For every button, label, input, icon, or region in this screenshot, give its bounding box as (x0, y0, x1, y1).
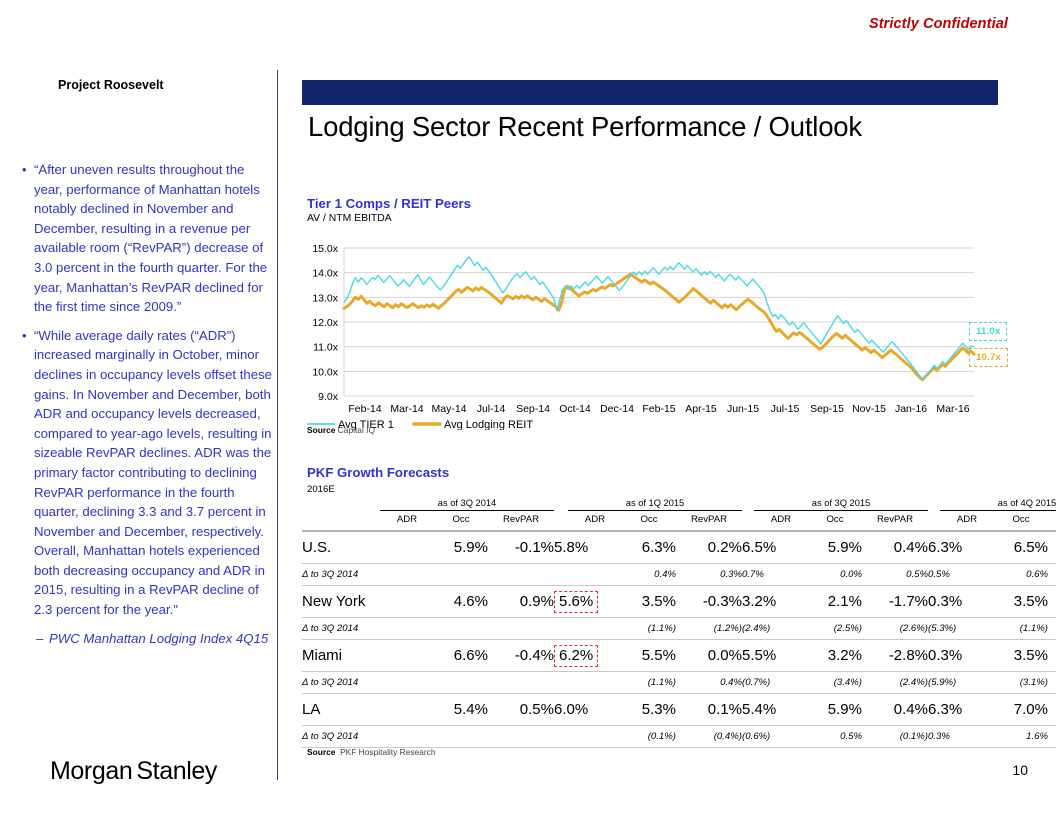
table-subtitle: 2016E (307, 484, 335, 495)
delta-cell: (2.6%) (862, 618, 928, 640)
delta-row: Δ to 3Q 20140.4%0.3%0.7%0.0%0.5%0.5%0.6%… (302, 564, 1056, 586)
table-cell: 1.0% (1048, 694, 1056, 726)
row-label: LA (302, 694, 380, 726)
table-cell: 0.1% (676, 694, 742, 726)
table-cell: 7.0% (994, 694, 1048, 726)
commentary-bullet-text: “While average daily rates (“ADR”) incre… (34, 326, 276, 620)
table-cell: 0.0% (676, 640, 742, 672)
delta-row-label: Δ to 3Q 2014 (302, 564, 380, 586)
column-header-occ: Occ (434, 511, 488, 529)
chart-title: Tier 1 Comps / REIT Peers (307, 196, 471, 211)
table-cell: 5.4% (742, 694, 754, 726)
delta-cell (434, 726, 488, 748)
table-row: U.S.5.9%-0.1%5.8%6.3%0.2%6.5%5.9%0.4%6.3… (302, 531, 1056, 564)
delta-cell (554, 618, 568, 640)
table-cell: 3.2% (808, 640, 862, 672)
table-cell: 6.2% (554, 640, 568, 672)
table-cell: -2.5% (1048, 640, 1056, 672)
logo-word-stanley: Stanley (136, 757, 217, 785)
table-cell: 6.5% (742, 531, 754, 564)
group-header: as of 3Q 2015 (754, 495, 928, 511)
table-cell: 6.3% (928, 531, 940, 564)
delta-cell: 0.3% (676, 564, 742, 586)
x-axis-tick-label: Mar-16 (936, 403, 969, 415)
delta-cell: 0.5% (1048, 726, 1056, 748)
x-axis-tick-label: Jun-15 (727, 403, 759, 415)
x-axis-tick-label: Apr-15 (685, 403, 717, 415)
delta-cell (554, 726, 568, 748)
y-axis-tick-label: 11.0x (313, 342, 339, 354)
column-header-adr: ADR (380, 511, 434, 529)
table-cell: 5.5% (742, 640, 754, 672)
page-title: Lodging Sector Recent Performance / Outl… (308, 111, 862, 143)
delta-cell: (1.2%) (676, 618, 742, 640)
x-axis-tick-label: May-14 (431, 403, 466, 415)
x-axis-tick-label: Feb-15 (642, 403, 675, 415)
table-cell: 0.5% (488, 694, 554, 726)
column-spacer (380, 618, 434, 640)
bullet-marker-icon: • (22, 160, 34, 317)
column-spacer (568, 564, 622, 586)
table-row: LA5.4%0.5%6.0%5.3%0.1%5.4%5.9%0.4%6.3%7.… (302, 694, 1056, 726)
column-header-adr: ADR (568, 511, 622, 529)
column-header-revpar: RevPAR (488, 511, 554, 529)
x-axis-tick-label: Jan-16 (895, 403, 927, 415)
delta-cell: (0.7%) (742, 672, 754, 694)
commentary-attribution: – PWC Manhattan Lodging Index 4Q15 (22, 629, 276, 649)
column-header-adr: ADR (940, 511, 994, 529)
column-spacer (380, 672, 434, 694)
bullet-marker-icon: • (22, 326, 34, 620)
table-cell: 5.6% (554, 586, 568, 618)
delta-cell: 0.7% (742, 564, 754, 586)
delta-cell (488, 618, 554, 640)
table-cell: 6.6% (434, 640, 488, 672)
table-source-label: Source (307, 747, 335, 757)
chart-legend-label: Avg Lodging REIT (444, 419, 533, 430)
table-cell: 0.9% (488, 586, 554, 618)
delta-row-label: Δ to 3Q 2014 (302, 726, 380, 748)
table-cell: -0.4% (488, 640, 554, 672)
delta-cell: (2.1%) (1048, 672, 1056, 694)
highlighted-value: 6.2% (554, 645, 598, 667)
group-header: as of 1Q 2015 (568, 495, 742, 511)
column-header-revpar: RevPAR (676, 511, 742, 529)
column-header-occ: Occ (622, 511, 676, 529)
table-source-value: PKF Hospitality Research (340, 747, 435, 757)
table-cell: 5.5% (622, 640, 676, 672)
commentary-attribution-text: PWC Manhattan Lodging Index 4Q15 (49, 629, 276, 649)
delta-cell (434, 618, 488, 640)
chart-svg: 15.0x14.0x13.0x12.0x11.0x10.0x9.0xFeb-14… (300, 240, 1012, 430)
table-cell: 0.2% (676, 531, 742, 564)
table-cell: 3.5% (994, 586, 1048, 618)
morgan-stanley-logo: MorganStanley (50, 757, 217, 786)
table-cell: -2.8% (862, 640, 928, 672)
table-cell: 0.3% (928, 586, 940, 618)
delta-cell: (5.9%) (928, 672, 940, 694)
x-axis-tick-label: Jul-14 (477, 403, 506, 415)
delta-cell: 0.5% (808, 726, 862, 748)
table-row: New York4.6%0.9%5.6%3.5%-0.3%3.2%2.1%-1.… (302, 586, 1056, 618)
table-title: PKF Growth Forecasts (307, 465, 449, 480)
column-spacer (568, 672, 622, 694)
delta-cell: (0.1%) (622, 726, 676, 748)
column-spacer (380, 726, 434, 748)
commentary-column: • “After uneven results throughout the y… (22, 160, 276, 648)
table-cell: 3.5% (994, 640, 1048, 672)
delta-cell (434, 672, 488, 694)
delta-cell: (2.4%) (862, 672, 928, 694)
delta-cell: (3.1%) (994, 672, 1048, 694)
table-cell: 6.5% (994, 531, 1048, 564)
y-axis-tick-label: 15.0x (312, 243, 338, 255)
column-header-revpar: RevPAR (862, 511, 928, 529)
chart-source: Source Capital IQ (307, 425, 375, 435)
x-axis-tick-label: Dec-14 (600, 403, 634, 415)
column-spacer (380, 640, 434, 672)
row-label: U.S. (302, 531, 380, 564)
group-header-row: as of 3Q 2014 as of 1Q 2015 as of 3Q 201… (302, 495, 1056, 511)
y-axis-tick-label: 10.0x (312, 366, 338, 378)
table-cell: 0.4% (862, 694, 928, 726)
section-banner (302, 80, 998, 105)
page-number: 10 (1012, 762, 1028, 778)
table-source: Source PKF Hospitality Research (307, 747, 435, 757)
delta-cell: (1.1%) (994, 618, 1048, 640)
delta-cell: 0.6% (994, 564, 1048, 586)
x-axis-tick-label: Mar-14 (390, 403, 423, 415)
table-body: U.S.5.9%-0.1%5.8%6.3%0.2%6.5%5.9%0.4%6.3… (302, 531, 1056, 748)
column-spacer (568, 726, 622, 748)
table-cell: -0.1% (488, 531, 554, 564)
delta-cell: (1.1%) (622, 618, 676, 640)
table-cell: 4.6% (434, 586, 488, 618)
x-axis-tick-label: Nov-15 (852, 403, 886, 415)
callout-reit: 10.7x (969, 348, 1008, 367)
delta-row: Δ to 3Q 2014(0.1%)(0.4%)(0.6%)0.5%(0.1%)… (302, 726, 1056, 748)
table-cell: 5.9% (434, 531, 488, 564)
y-axis-tick-label: 13.0x (312, 292, 338, 304)
delta-cell: (0.4%) (676, 726, 742, 748)
delta-cell: (0.1%) (862, 726, 928, 748)
delta-cell: 1.6% (994, 726, 1048, 748)
row-label: Miami (302, 640, 380, 672)
row-label: New York (302, 586, 380, 618)
table-cell: 5.9% (808, 694, 862, 726)
table-cell: 5.3% (622, 694, 676, 726)
x-axis-tick-label: Oct-14 (559, 403, 591, 415)
column-header-row: ADR Occ RevPAR ADR Occ RevPAR ADR Occ Re… (302, 511, 1056, 529)
logo-word-morgan: Morgan (50, 757, 132, 785)
table-cell: 0.4% (862, 531, 928, 564)
y-axis-tick-label: 9.0x (318, 391, 339, 403)
table-cell: -0.3% (676, 586, 742, 618)
y-axis-tick-label: 12.0x (312, 317, 338, 329)
delta-cell (488, 564, 554, 586)
table-head: as of 3Q 2014 as of 1Q 2015 as of 3Q 201… (302, 495, 1056, 531)
table-cell: 0.3% (928, 640, 940, 672)
commentary-bullet: • “After uneven results throughout the y… (22, 160, 276, 317)
column-header-occ: Occ (808, 511, 862, 529)
table-cell: 3.2% (742, 586, 754, 618)
project-name-label: Project Roosevelt (58, 78, 164, 92)
column-spacer (380, 531, 434, 564)
x-axis-tick-label: Jul-15 (771, 403, 800, 415)
chart-subtitle: AV / NTM EBITDA (307, 213, 392, 224)
chart-series-line (344, 274, 974, 380)
delta-cell (554, 672, 568, 694)
table-cell: 2.1% (808, 586, 862, 618)
delta-cell: 0.4% (676, 672, 742, 694)
chart-source-value: Capital IQ (338, 425, 375, 435)
table-cell: -0.5% (1048, 531, 1056, 564)
delta-cell: (1.9%) (1048, 618, 1056, 640)
commentary-bullet-text: “After uneven results throughout the yea… (34, 160, 276, 317)
highlighted-value: 5.6% (554, 591, 598, 613)
column-spacer (568, 618, 622, 640)
callout-tier1: 11.0x (969, 322, 1007, 341)
delta-row-label: Δ to 3Q 2014 (302, 672, 380, 694)
delta-cell: (1.1%) (622, 672, 676, 694)
column-spacer (380, 586, 434, 618)
delta-cell: (5.3%) (928, 618, 940, 640)
table-cell: 6.3% (622, 531, 676, 564)
column-spacer (380, 564, 434, 586)
table-cell: -1.0% (1048, 586, 1056, 618)
x-axis-tick-label: Feb-14 (348, 403, 381, 415)
x-axis-tick-label: Sep-14 (516, 403, 550, 415)
delta-cell: (0.6%) (742, 726, 754, 748)
delta-cell (434, 564, 488, 586)
column-spacer (380, 694, 434, 726)
delta-cell (554, 564, 568, 586)
section-banner-label: LODGING CAPITAL MARKETS OBSERVATIONS (11, 6, 258, 17)
column-header-revpar: RevPAR (1048, 511, 1056, 529)
column-header-adr: ADR (754, 511, 808, 529)
y-axis-tick-label: 14.0x (312, 268, 338, 280)
delta-row: Δ to 3Q 2014(1.1%)0.4%(0.7%)(3.4%)(2.4%)… (302, 672, 1056, 694)
commentary-bullet: • “While average daily rates (“ADR”) inc… (22, 326, 276, 620)
delta-cell: 0.4% (622, 564, 676, 586)
table-row: Miami6.6%-0.4%6.2%5.5%0.0%5.5%3.2%-2.8%0… (302, 640, 1056, 672)
table-cell: -1.7% (862, 586, 928, 618)
dash-marker-icon: – (36, 629, 49, 649)
confidentiality-notice: Strictly Confidential (869, 16, 1008, 32)
delta-row: Δ to 3Q 2014(1.1%)(1.2%)(2.4%)(2.5%)(2.6… (302, 618, 1056, 640)
table-cell: 5.4% (434, 694, 488, 726)
chart-source-label: Source (307, 425, 335, 435)
x-axis-tick-label: Sep-15 (810, 403, 844, 415)
delta-cell: 0.5% (862, 564, 928, 586)
chart-series-line (344, 257, 974, 379)
group-header: as of 4Q 2015 (940, 495, 1056, 511)
pkf-growth-forecast-table: as of 3Q 2014 as of 1Q 2015 as of 3Q 201… (302, 495, 1056, 748)
delta-cell (488, 726, 554, 748)
delta-row-label: Δ to 3Q 2014 (302, 618, 380, 640)
delta-cell: (3.4%) (808, 672, 862, 694)
table-cell: 6.3% (928, 694, 940, 726)
delta-cell: (2.5%) (808, 618, 862, 640)
delta-cell: 0.5% (928, 564, 940, 586)
line-chart: 15.0x14.0x13.0x12.0x11.0x10.0x9.0xFeb-14… (300, 240, 1012, 430)
column-header-occ: Occ (994, 511, 1048, 529)
group-header: as of 3Q 2014 (380, 495, 554, 511)
vertical-divider (277, 70, 278, 780)
delta-cell: 0.3% (928, 726, 940, 748)
delta-cell (488, 672, 554, 694)
delta-cell: (0.4%) (1048, 564, 1056, 586)
table-cell: 5.8% (554, 531, 568, 564)
delta-cell: (2.4%) (742, 618, 754, 640)
table-cell: 3.5% (622, 586, 676, 618)
table-cell: 6.0% (554, 694, 568, 726)
delta-cell: 0.0% (808, 564, 862, 586)
table-cell: 5.9% (808, 531, 862, 564)
slide-canvas: Strictly Confidential Project Roosevelt … (0, 0, 1056, 816)
